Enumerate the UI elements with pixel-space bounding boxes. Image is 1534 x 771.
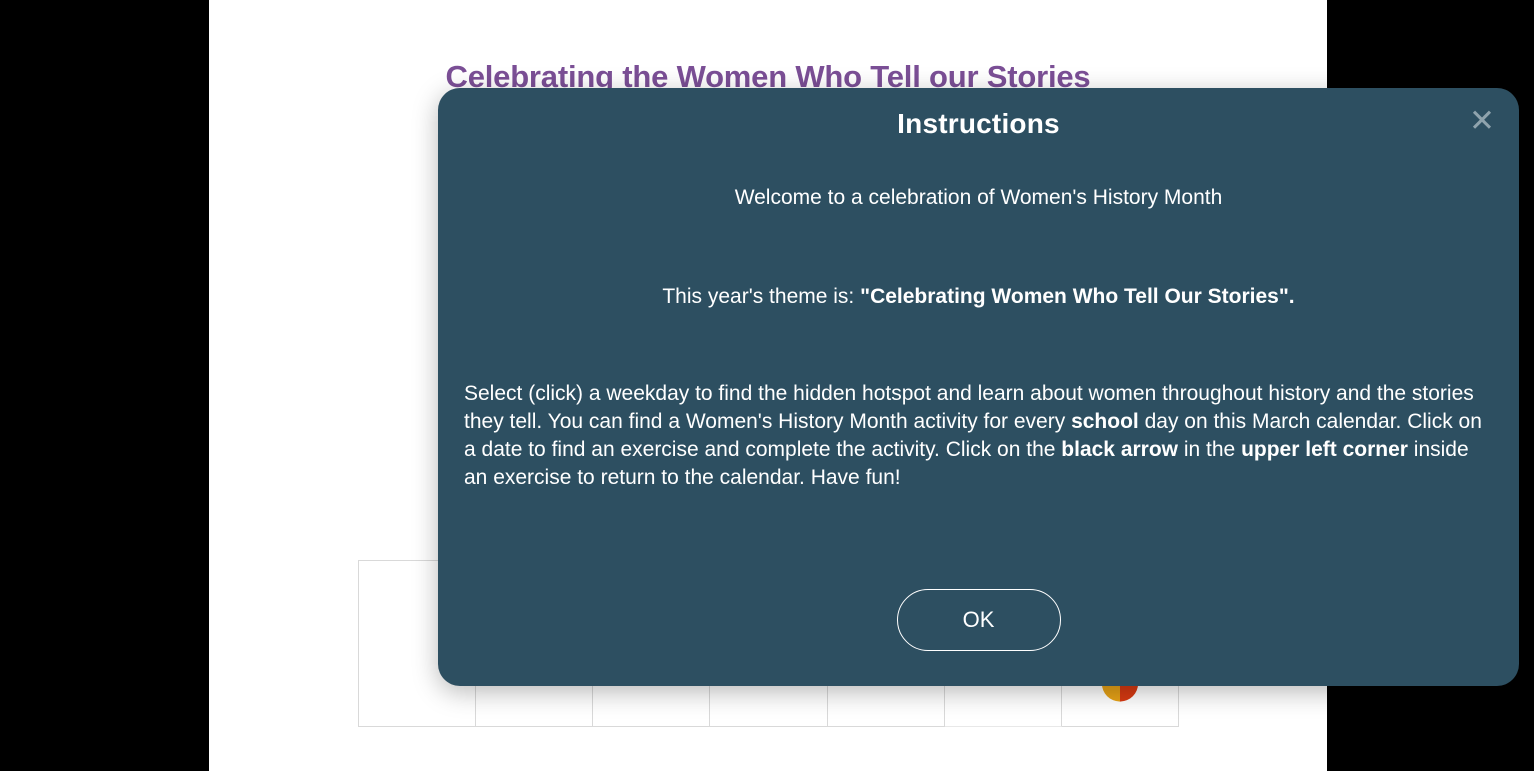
theme-quote: "Celebrating Women Who Tell Our Stories"… <box>860 285 1295 308</box>
instructions-modal: Instructions ✕ Welcome to a celebration … <box>438 88 1519 686</box>
details-bold-school: school <box>1071 410 1139 433</box>
theme-text: This year's theme is: "Celebrating Women… <box>464 283 1493 311</box>
details-text: Select (click) a weekday to find the hid… <box>464 380 1493 492</box>
modal-title: Instructions <box>438 108 1519 140</box>
details-bold-upper-left-corner: upper left corner <box>1241 438 1408 461</box>
details-segment-3: in the <box>1178 438 1241 461</box>
page-sheet: Celebrating the Women Who Tell our Stori… <box>209 0 1327 771</box>
screen-root: Celebrating the Women Who Tell our Stori… <box>0 0 1534 771</box>
close-icon[interactable]: ✕ <box>1465 104 1499 138</box>
theme-prefix: This year's theme is: <box>662 285 860 308</box>
modal-body: Welcome to a celebration of Women's Hist… <box>464 174 1493 492</box>
details-bold-black-arrow: black arrow <box>1061 438 1178 461</box>
welcome-text: Welcome to a celebration of Women's Hist… <box>464 184 1493 212</box>
ok-button[interactable]: OK <box>897 589 1061 651</box>
